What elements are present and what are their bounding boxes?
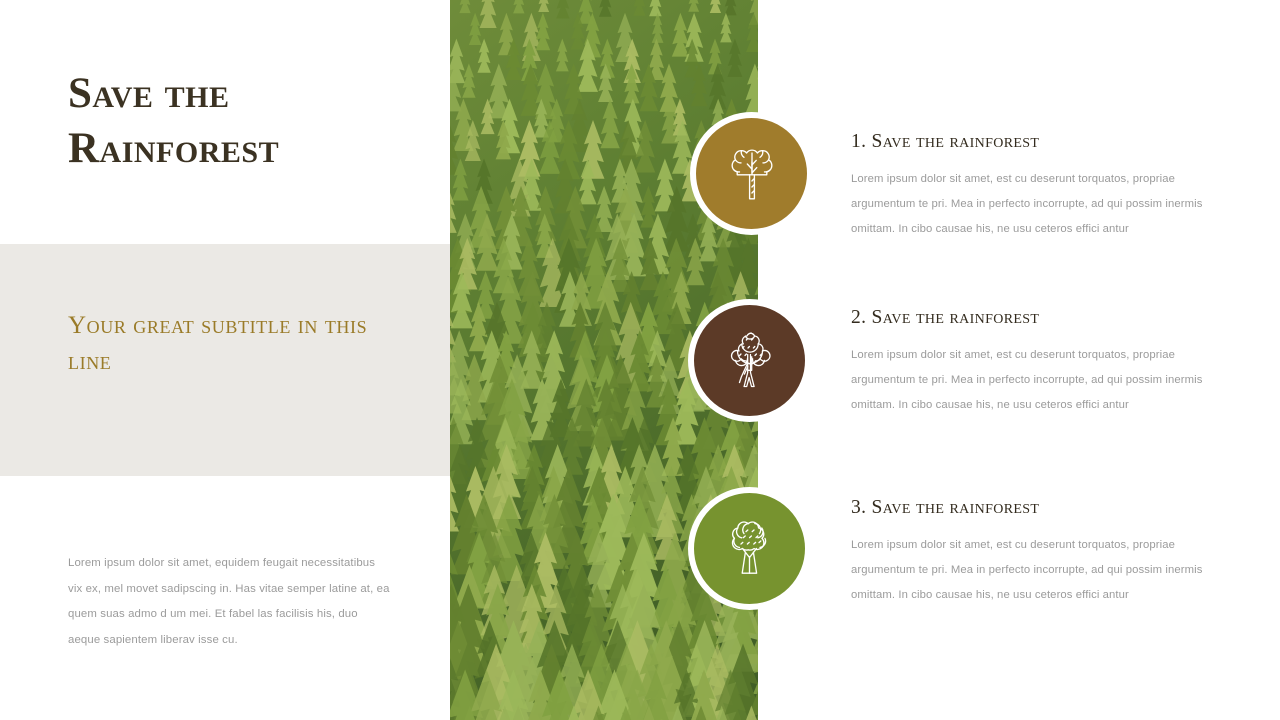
page-subtitle: Your great subtitle in this line <box>68 308 368 379</box>
feature-icon-3[interactable] <box>688 487 811 610</box>
slide: Save the Rainforest Your great subtitle … <box>0 0 1280 720</box>
intro-paragraph: Lorem ipsum dolor sit amet, equidem feug… <box>68 551 390 654</box>
feature-icon-2[interactable] <box>688 299 811 422</box>
feature-body-1: Lorem ipsum dolor sit amet, est cu deser… <box>851 167 1207 242</box>
feature-icon-1[interactable] <box>690 112 813 235</box>
feature-item-3: 3. Save the rainforest Lorem ipsum dolor… <box>851 497 1207 608</box>
page-title: Save the Rainforest <box>68 66 408 176</box>
feature-body-3: Lorem ipsum dolor sit amet, est cu deser… <box>851 533 1207 608</box>
feature-item-1: 1. Save the rainforest Lorem ipsum dolor… <box>851 131 1207 242</box>
feature-item-2: 2. Save the rainforest Lorem ipsum dolor… <box>851 307 1207 418</box>
cluster-tree-icon <box>718 330 782 392</box>
feature-body-2: Lorem ipsum dolor sit amet, est cu deser… <box>851 343 1207 418</box>
broadleaf-tree-icon <box>721 143 783 205</box>
feature-heading-2: 2. Save the rainforest <box>851 307 1207 329</box>
feature-heading-3: 3. Save the rainforest <box>851 497 1207 519</box>
feature-heading-1: 1. Save the rainforest <box>851 131 1207 153</box>
leafy-tree-icon <box>718 518 782 580</box>
